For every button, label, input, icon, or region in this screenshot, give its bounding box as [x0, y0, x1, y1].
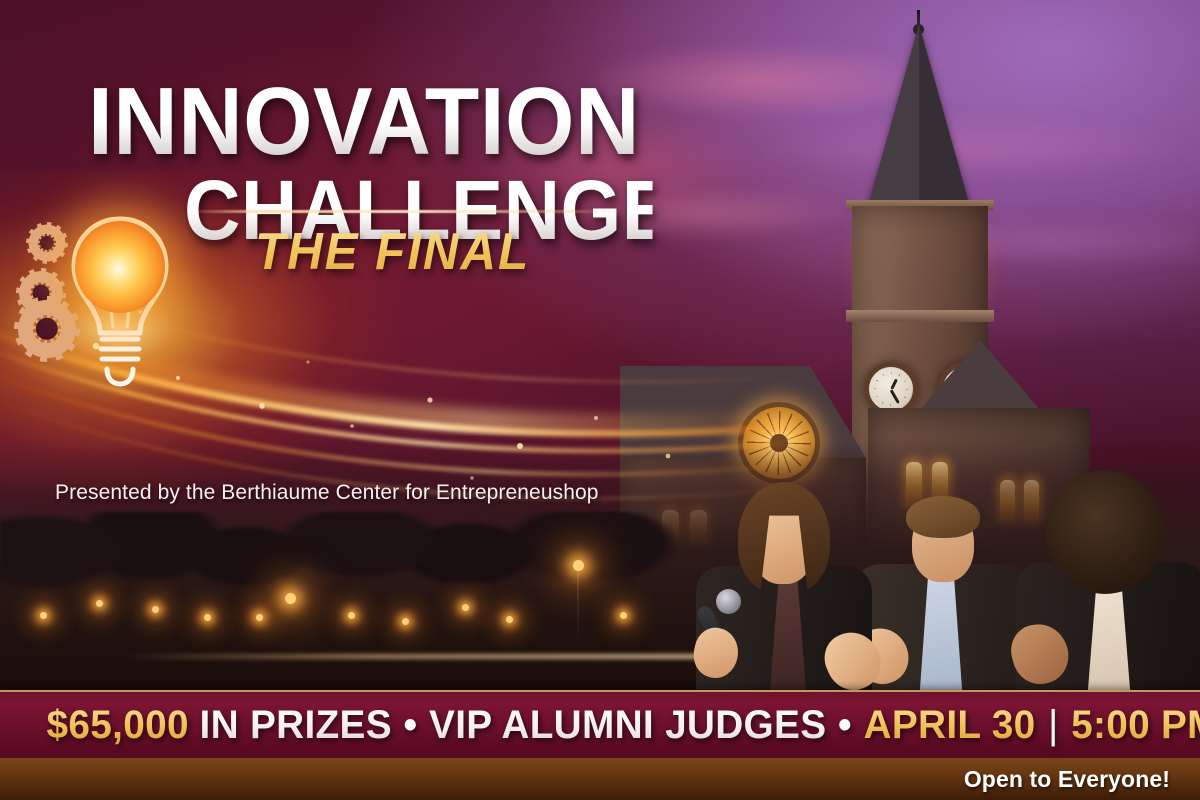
- prize-label: IN PRIZES: [200, 703, 392, 748]
- banner-bullet-1: •: [392, 703, 429, 748]
- judges-label: VIP ALUMNI JUDGES: [429, 703, 826, 748]
- streetlamp-light: [285, 593, 296, 604]
- streetlamp-light: [152, 606, 159, 613]
- banner-bullet-2: •: [826, 703, 863, 748]
- lamp-post: [577, 568, 579, 638]
- info-banner: $65,000 IN PRIZES • VIP ALUMNI JUDGES • …: [0, 690, 1200, 758]
- streetlamp-light: [40, 612, 47, 619]
- streetlamp-light: [96, 600, 103, 607]
- event-date: APRIL 30: [864, 703, 1036, 748]
- hair: [906, 496, 980, 538]
- event-time: 5:00 PM: [1071, 703, 1200, 748]
- tower-spire-shadow: [919, 24, 971, 210]
- streetlamp-light: [506, 616, 513, 623]
- streetlamp-light: [620, 612, 627, 619]
- footer-strip: Open to Everyone!: [0, 758, 1200, 800]
- open-to-everyone-note: Open to Everyone!: [964, 766, 1170, 793]
- streetlamp-light: [348, 612, 355, 619]
- transept-gable: [918, 340, 1042, 412]
- person-right: [1010, 432, 1200, 690]
- title-divider-rule: [186, 210, 622, 213]
- clock-ticks: [874, 372, 908, 406]
- hair: [1046, 470, 1164, 594]
- streetlamp-light: [402, 618, 409, 625]
- subtitle-the-final: THE FINAL: [255, 222, 530, 282]
- presented-by-text: Presented by the Berthiaume Center for E…: [55, 481, 599, 505]
- streetlamp-light: [462, 604, 469, 611]
- tower-string-course: [846, 310, 994, 322]
- streetlamp-light: [204, 614, 211, 621]
- event-poster: INNOVATION CHALLENGE THE FINAL Presented…: [0, 0, 1200, 800]
- streetlamp-light: [573, 560, 584, 571]
- banner-pipe-1: |: [1036, 703, 1072, 748]
- microphone-head: [716, 589, 741, 614]
- banner-content: $65,000 IN PRIZES • VIP ALUMNI JUDGES • …: [0, 703, 1200, 748]
- streetlamp-light: [256, 614, 263, 621]
- prize-amount: $65,000: [47, 703, 189, 748]
- headline-innovation: INNOVATION: [88, 78, 646, 166]
